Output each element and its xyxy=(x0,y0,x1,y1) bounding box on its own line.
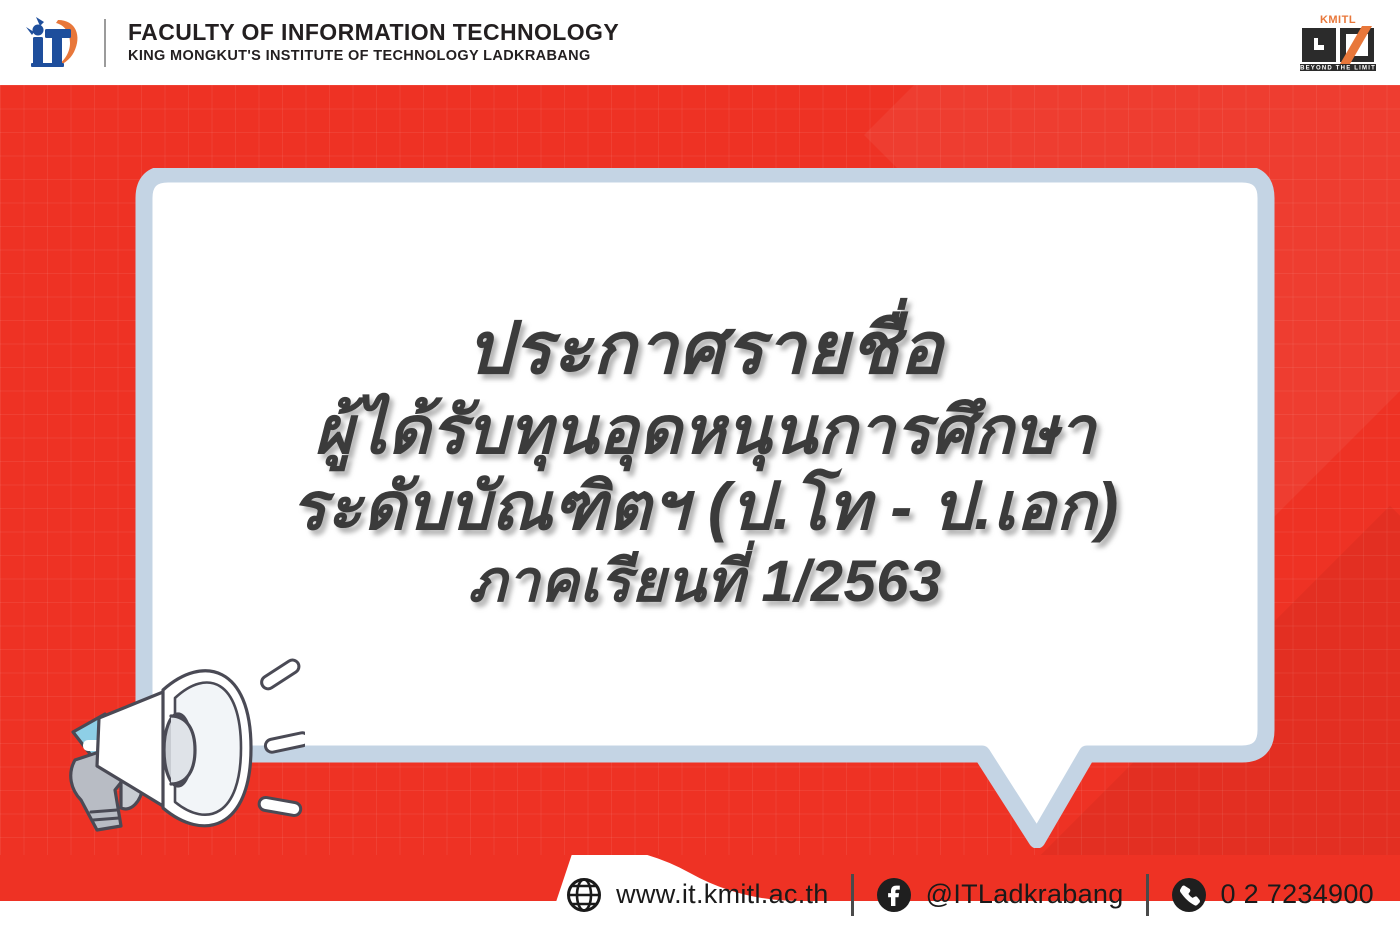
facebook-icon xyxy=(876,877,912,913)
facebook-label: @ITLadkrabang xyxy=(926,879,1124,910)
website-label: www.it.kmitl.ac.th xyxy=(616,879,828,910)
announcement-line-3: ระดับบัณฑิตฯ (ป.โท - ป.เอก) xyxy=(291,470,1119,544)
header-text-block: FACULTY OF INFORMATION TECHNOLOGY KING M… xyxy=(128,19,619,66)
facebook-contact[interactable]: @ITLadkrabang xyxy=(876,877,1124,913)
contact-footer: www.it.kmitl.ac.th @ITLadkrabang 0 2 723… xyxy=(0,855,1400,934)
it-faculty-logo-icon xyxy=(18,12,90,74)
footer-separator-2 xyxy=(1146,874,1149,916)
faculty-title: FACULTY OF INFORMATION TECHNOLOGY xyxy=(128,19,619,45)
svg-text:KMITL: KMITL xyxy=(1320,14,1356,26)
footer-separator-1 xyxy=(851,874,854,916)
globe-icon xyxy=(566,877,602,913)
poster-background: ประกาศรายชื่อ ผู้ได้รับทุนอุดหนุนการศึกษ… xyxy=(0,85,1400,934)
kmitl-go-logo-icon: KMITL BEYOND THE LIMIT xyxy=(1292,10,1384,72)
announcement-line-4: ภาคเรียนที่ 1/2563 xyxy=(468,550,941,615)
phone-icon xyxy=(1171,877,1207,913)
university-subtitle: KING MONGKUT'S INSTITUTE OF TECHNOLOGY L… xyxy=(128,47,619,66)
phone-label: 0 2 7234900 xyxy=(1221,879,1374,910)
footer-contact-items: www.it.kmitl.ac.th @ITLadkrabang 0 2 723… xyxy=(566,855,1374,934)
site-header: FACULTY OF INFORMATION TECHNOLOGY KING M… xyxy=(0,0,1400,85)
svg-text:BEYOND THE LIMIT: BEYOND THE LIMIT xyxy=(1300,66,1376,72)
website-contact[interactable]: www.it.kmitl.ac.th xyxy=(566,877,828,913)
announcement-line-2: ผู้ได้รับทุนอุดหนุนการศึกษา xyxy=(314,394,1095,468)
phone-contact[interactable]: 0 2 7234900 xyxy=(1171,877,1374,913)
announcement-line-1: ประกาศรายชื่อ xyxy=(466,309,943,390)
megaphone-icon xyxy=(35,640,305,860)
header-divider xyxy=(104,19,106,67)
